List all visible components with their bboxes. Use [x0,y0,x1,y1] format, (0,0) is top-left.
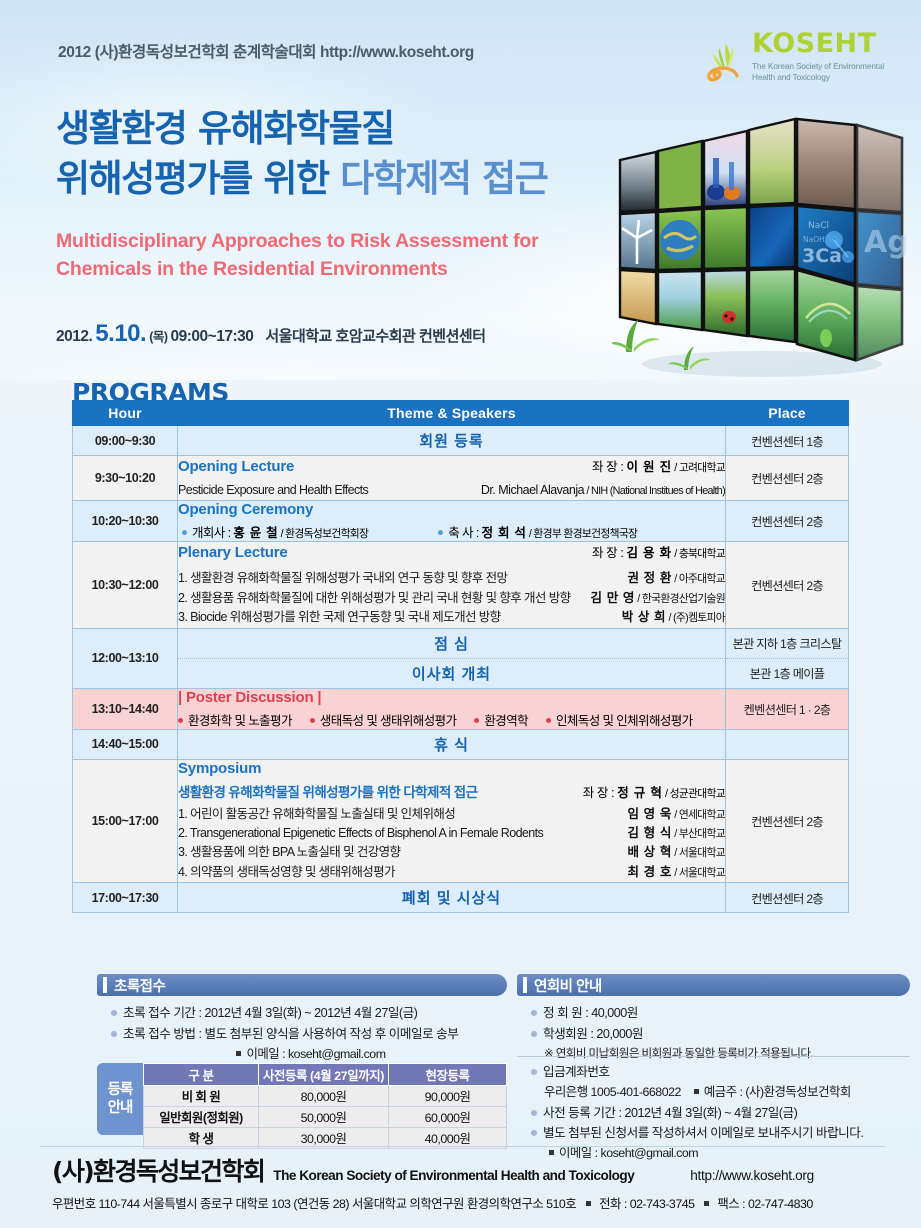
section-title: Opening Lecture [178,458,294,475]
logo-subtitle-line2: Health and Toxicology [752,72,884,83]
poster-topic: 생태독성 및 생태위해성평가 [310,710,457,729]
square-bullet-icon [236,1051,241,1056]
registration-fee-block: 등록 안내 구 분 사전등록 (4월 27일까지) 현장등록 비 회 원 80,… [97,1063,507,1135]
row-place: 컨벤션센터 2층 [726,456,849,501]
talk-title: 2. Transgenerational Epigenetic Effects … [178,824,543,843]
reg-pre-fee: 80,000원 [259,1086,389,1107]
poster-topic-label: 인체독성 및 인체위해성평가 [556,714,693,728]
talk-title: 1. 생활환경 유해화학물질 위해성평가 국내외 연구 동향 및 향후 전망 [178,569,507,588]
poster-topic-label: 환경화학 및 노출평가 [188,714,292,728]
fee-note: ※ 연회비 미납회원은 비회원과 동일한 등록비가 적용됩니다. [531,1045,904,1061]
table-row: 15:00~17:00 Symposium 생활환경 유해화학물질 위해성평가를… [73,759,849,883]
row-hour: 10:30~12:00 [73,542,178,628]
header-topline: 2012 (사)환경독성보건학회 춘계학술대회 http://www.koseh… [58,40,474,62]
poster-topic: 환경역학 [474,710,528,729]
row-place: 본관 1층 메이플 [726,658,849,688]
reg-column-onsite: 현장등록 [389,1064,507,1086]
payment-info-block: 입금계좌번호 우리은행 1005-401-668022예금주 : (사)환경독성… [517,1060,910,1164]
bullet-dot-icon [531,1130,537,1136]
chair-affiliation: / 성균관대학교 [663,788,725,800]
speaker-name: 배 상 혁 [627,845,671,859]
subtitle-english: Multidisciplinary Approaches to Risk Ass… [56,228,616,283]
reg-pre-fee: 50,000원 [259,1107,389,1128]
chair-name: 김 용 화 [626,546,671,560]
program-table: Hour Theme & Speakers Place 09:00~9:30 회… [72,400,849,913]
speaker-affiliation: / NIH (National Institues of Health) [584,485,725,497]
registration-label: 등록 안내 [97,1063,143,1135]
footer-org-korean: (사)환경독성보건학회 [52,1152,264,1188]
talk-title: 3. Biocide 위해성평가를 위한 국제 연구동향 및 국내 제도개선 방… [178,608,501,627]
speaker-info: 박 상 희 / (주)켐토피아 [622,608,725,627]
column-header-hour: Hour [73,401,178,426]
speaker-affiliation: / 서울대학교 [672,847,725,859]
event-weekday: (목) [149,326,167,345]
chair-label: 좌 장 : [583,786,618,800]
abstract-item-text: 초록 접수 기간 : 2012년 4월 3일(화) ~ 2012년 4월 27일… [123,1006,417,1020]
table-row: 13:10~14:40 | Poster Discussion | 환경화학 및… [73,688,849,729]
preperiod-row: 사전 등록 기간 : 2012년 4월 3일(화) ~ 4월 27일(금) [531,1103,904,1124]
speaker-name: 최 경 호 [627,865,671,879]
speaker-name: 박 상 희 [622,610,666,624]
square-bullet-icon [694,1089,699,1094]
svg-text:Ag: Ag [864,225,909,260]
footer-tel: 전화 : 02-743-3745 [599,1197,694,1211]
chair-info: 좌 장 : 이 원 진 / 고려대학교 [592,456,725,475]
reg-header-row: 구 분 사전등록 (4월 27일까지) 현장등록 [144,1064,507,1086]
chair-name: 정 규 혁 [617,786,662,800]
bullet-dot-icon [310,718,315,723]
annual-fee-box: 연회비 안내 정 회 원 : 40,000원 학생회원 : 20,000원 ※ … [517,974,910,1061]
account-title-row: 입금계좌번호 [531,1062,904,1083]
column-header-theme: Theme & Speakers [178,401,726,426]
preperiod-text: 사전 등록 기간 : 2012년 4월 3일(화) ~ 4월 27일(금) [543,1106,797,1120]
row-hour: 09:00~9:30 [73,426,178,456]
speaker-info: 권 정 환 / 아주대학교 [627,569,725,588]
fee-item: 정 회 원 : 40,000원 [531,1003,904,1024]
speaker-affiliation: / 서울대학교 [672,867,725,879]
speaker-affiliation: / (주)켐토피아 [666,612,725,624]
bullet-dot-icon [474,718,479,723]
speaker-affiliation: / 아주대학교 [672,573,725,585]
ceremony-name: 홍 윤 철 [233,526,278,540]
bullet-dot-icon [531,1110,537,1116]
row-center-text: 회원 등록 [178,426,725,455]
title-korean-line2-b: 다학제적 접근 [340,157,547,200]
table-row: 17:00~17:30 폐회 및 시상식 컨벤션센터 2층 [73,883,849,913]
table-row: 14:40~15:00 휴 식 [73,729,849,759]
reg-column-pre: 사전등록 (4월 27일까지) [259,1064,389,1086]
fee-item: 학생회원 : 20,000원 [531,1024,904,1045]
speaker-info: 임 영 욱 / 연세대학교 [627,805,725,824]
row-hour: 9:30~10:20 [73,456,178,501]
table-row: 이사회 개최 본관 1층 메이플 [73,658,849,688]
chair-label: 좌 장 : [592,460,627,474]
row-place: 켄벤션센터 1 · 2층 [726,688,849,729]
table-row: 09:00~9:30 회원 등록 컨벤션센터 1층 [73,426,849,456]
section-title: Opening Ceremony [178,501,725,518]
abstract-box-title: 초록접수 [97,974,507,996]
reg-row: 비 회 원 80,000원 90,000원 [144,1086,507,1107]
bullet-dot-icon [111,1031,117,1037]
section-subtitle: 생활환경 유해화학물질 위해성평가를 위한 다학제적 접근 [178,781,477,801]
table-row: 10:20~10:30 Opening Ceremony 개회사 : 홍 윤 철… [73,501,849,542]
bullet-dot-icon [438,530,443,535]
footer: (사)환경독성보건학회 The Korean Society of Enviro… [52,1152,912,1212]
account-holder: 예금주 : (사)환경독성보건학회 [704,1085,851,1099]
talk-title: Pesticide Exposure and Health Effects [178,481,368,500]
row-hour: 12:00~13:10 [73,628,178,688]
photo-cube-graphic: NaCl NaOH,SO₄ 3Ca Ag [612,112,917,382]
speaker-name: 김 형 식 [627,826,671,840]
svg-text:NaCl: NaCl [808,221,829,231]
row-place: 컨벤션센터 1층 [726,426,849,456]
ceremony-affiliation: / 환경부 환경보건정책국장 [527,528,638,540]
logo-name: KOSEHT [752,30,884,57]
table-row: 9:30~10:20 Opening Lecture 좌 장 : 이 원 진 /… [73,456,849,501]
ceremony-item: 축 사 : 정 회 석 / 환경부 환경보건정책국장 [438,522,637,541]
speaker-info: Dr. Michael Alavanja / NIH (National Ins… [481,481,725,500]
talk-title: 2. 생활용품 유해화학물질에 대한 위해성평가 및 관리 국내 현황 및 향후… [178,589,571,608]
table-header-row: Hour Theme & Speakers Place [73,401,849,426]
chair-name: 이 원 진 [626,460,671,474]
account-detail-row: 우리은행 1005-401-668022예금주 : (사)환경독성보건학회 [531,1083,904,1103]
footer-fax: 팩스 : 02-747-4830 [717,1197,812,1211]
square-bullet-icon [704,1201,709,1206]
row-center-text: 점 심 [178,629,725,658]
row-center-text: 폐회 및 시상식 [178,883,725,912]
speaker-info: 최 경 호 / 서울대학교 [627,863,725,882]
account-title: 입금계좌번호 [543,1065,610,1079]
row-hour: 13:10~14:40 [73,688,178,729]
talk-title: 3. 생활용품에 의한 BPA 노출실태 및 건강영향 [178,843,400,862]
bullet-dot-icon [531,1010,537,1016]
title-korean-line1: 생활환경 유해화학물질 [56,104,636,154]
logo-subtitle: The Korean Society of Environmental Heal… [752,61,884,83]
reg-type: 비 회 원 [144,1086,259,1107]
ceremony-name: 정 회 석 [482,526,527,540]
row-place [726,729,849,759]
row-hour: 17:00~17:30 [73,883,178,913]
page-title: 생활환경 유해화학물질 위해성평가를 위한 다학제적 접근 [56,104,636,203]
fee-item-text: 정 회 원 : 40,000원 [543,1006,638,1020]
abstract-email: 이메일 : koseht@gmail.com [246,1047,385,1061]
row-place: 컨벤션센터 2층 [726,501,849,542]
reg-row: 일반회원(정회원) 50,000원 60,000원 [144,1107,507,1128]
registration-label-line2: 안내 [108,1099,133,1117]
event-time: 09:00~17:30 [171,328,254,346]
speaker-affiliation: / 연세대학교 [672,809,725,821]
bullet-dot-icon [531,1031,537,1037]
speaker-affiliation: / 부산대학교 [672,828,725,840]
poster-topic-label: 환경역학 [484,714,528,728]
reg-column-type: 구 분 [144,1064,259,1086]
fee-item-text: 학생회원 : 20,000원 [543,1027,643,1041]
speaker-info: 배 상 혁 / 서울대학교 [627,843,725,862]
logo-subtitle-line1: The Korean Society of Environmental [752,61,884,72]
event-year: 2012. [56,328,92,346]
fee-box-title: 연회비 안내 [517,974,910,996]
speaker-name: Dr. Michael Alavanja [481,483,584,497]
subtitle-english-line2: Chemicals in the Residential Environment… [56,256,616,284]
abstract-item-text: 초록 접수 방법 : 별도 첨부된 양식을 사용하여 작성 후 이메일로 송부 [123,1027,458,1041]
row-place: 컨벤션센터 2층 [726,883,849,913]
poster-topic: 인체독성 및 인체위해성평가 [546,710,693,729]
account-bank: 우리은행 1005-401-668022 [544,1085,681,1099]
reg-onsite-fee: 90,000원 [389,1086,507,1107]
title-korean-line2: 위해성평가를 위한 다학제적 접근 [56,154,636,204]
speaker-name: 김 만 영 [591,591,635,605]
instruction-row: 별도 첨부된 신청서를 작성하셔서 이메일로 보내주시기 바랍니다. [531,1123,904,1144]
ceremony-role: 개회사 : [192,526,233,540]
footer-org-english: The Korean Society of Environmental Heal… [273,1168,634,1183]
column-header-place: Place [726,401,849,426]
row-center-text: 휴 식 [178,730,725,759]
event-date: 5.10. [95,320,146,348]
talk-title: 1. 어린이 활동공간 유해화학물질 노출실태 및 인체위해성 [178,805,455,824]
speaker-affiliation: / 한국환경산업기술원 [635,593,725,605]
koseht-logo: KOSEHT The Korean Society of Environment… [700,30,885,90]
registration-fee-table: 구 분 사전등록 (4월 27일까지) 현장등록 비 회 원 80,000원 9… [143,1063,507,1149]
abstract-item: 초록 접수 기간 : 2012년 4월 3일(화) ~ 2012년 4월 27일… [111,1003,501,1024]
row-hour: 15:00~17:00 [73,759,178,883]
speaker-name: 임 영 욱 [627,807,671,821]
bullet-dot-icon [182,530,187,535]
koseht-logo-icon [700,34,748,84]
speaker-name: 권 정 환 [627,571,671,585]
payment-divider [517,1056,910,1057]
chair-info: 좌 장 : 김 용 화 / 충북대학교 [592,542,725,561]
reg-type: 일반회원(정회원) [144,1107,259,1128]
abstract-email-row: 이메일 : koseht@gmail.com [111,1045,501,1065]
square-bullet-icon [586,1201,591,1206]
abstract-item: 초록 접수 방법 : 별도 첨부된 양식을 사용하여 작성 후 이메일로 송부 [111,1024,501,1045]
title-korean-line2-a: 위해성평가를 위한 [56,157,340,200]
footer-url[interactable]: http://www.koseht.org [690,1168,814,1183]
footer-divider [40,1146,885,1147]
section-title: Symposium [178,760,725,777]
poster-topic-label: 생태독성 및 생태위해성평가 [320,714,457,728]
bullet-dot-icon [111,1010,117,1016]
ceremony-item: 개회사 : 홍 윤 철 / 환경독성보건학회장 [182,522,368,541]
registration-label-line1: 등록 [108,1081,133,1099]
abstract-submission-box: 초록접수 초록 접수 기간 : 2012년 4월 3일(화) ~ 2012년 4… [97,974,507,1064]
speaker-info: 김 만 영 / 한국환경산업기술원 [591,589,725,608]
talk-title: 4. 의약품의 생태독성영향 및 생태위해성평가 [178,863,395,882]
poster-topic: 환경화학 및 노출평가 [178,710,292,729]
instruction-text: 별도 첨부된 신청서를 작성하셔서 이메일로 보내주시기 바랍니다. [543,1126,863,1140]
row-hour: 10:20~10:30 [73,501,178,542]
chair-affiliation: / 충북대학교 [672,548,725,560]
ceremony-role: 축 사 : [448,526,481,540]
bullet-dot-icon [178,718,183,723]
row-place: 컨벤션센터 2층 [726,542,849,628]
chair-affiliation: / 고려대학교 [672,462,725,474]
speaker-info: 김 형 식 / 부산대학교 [627,824,725,843]
table-row: 12:00~13:10 점 심 본관 지하 1층 크리스탈 [73,628,849,658]
section-title: Plenary Lecture [178,544,288,561]
subtitle-english-line1: Multidisciplinary Approaches to Risk Ass… [56,228,616,256]
ceremony-affiliation: / 환경독성보건학회장 [278,528,368,540]
bullet-dot-icon [531,1069,537,1075]
photo-cube-svg: NaCl NaOH,SO₄ 3Ca Ag [612,112,917,382]
row-hour: 14:40~15:00 [73,729,178,759]
row-place: 본관 지하 1층 크리스탈 [726,628,849,658]
bullet-dot-icon [546,718,551,723]
chair-info: 좌 장 : 정 규 혁 / 성균관대학교 [583,782,725,801]
event-venue: 서울대학교 호암교수회관 컨벤션센터 [265,325,485,346]
chair-label: 좌 장 : [592,546,627,560]
event-datetime: 2012. 5.10. (목) 09:00~17:30 서울대학교 호암교수회관… [56,320,656,348]
row-center-text: 이사회 개최 [178,659,725,688]
table-row: 10:30~12:00 Plenary Lecture 좌 장 : 김 용 화 … [73,542,849,628]
row-place: 컨벤션센터 2층 [726,759,849,883]
footer-address: 우편번호 110-744 서울특별시 종로구 대학로 103 (연건동 28) … [52,1197,576,1211]
reg-onsite-fee: 60,000원 [389,1107,507,1128]
section-title: | Poster Discussion | [178,689,725,706]
